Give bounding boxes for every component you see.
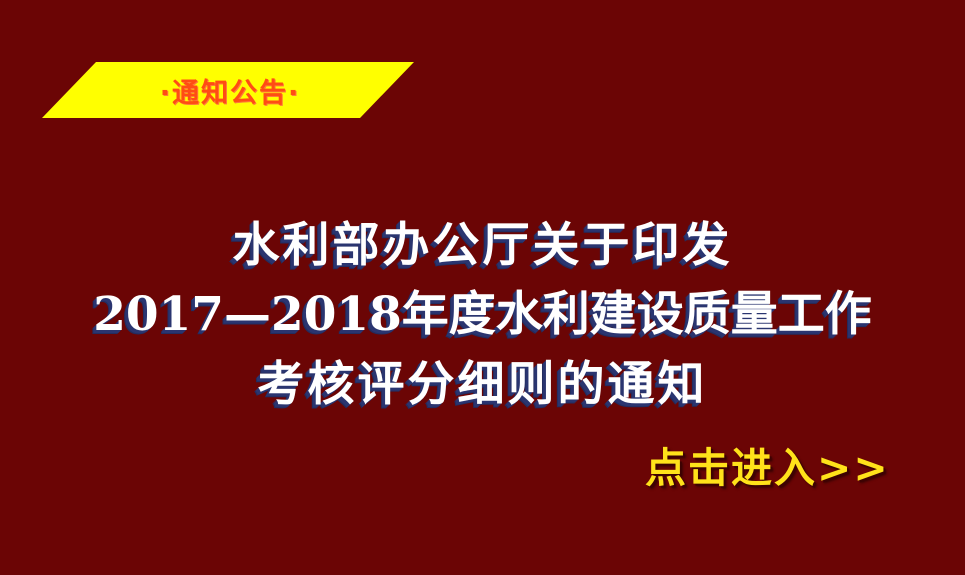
title-line-2: 2017—2018年度水利建设质量工作 bbox=[0, 280, 965, 350]
notice-banner-label: ·通知公告· bbox=[42, 62, 414, 118]
announcement-title: 水利部办公厅关于印发 2017—2018年度水利建设质量工作 考核评分细则的通知 bbox=[0, 212, 965, 420]
title-line-1: 水利部办公厅关于印发 bbox=[0, 212, 965, 280]
enter-link[interactable]: 点击进入>> bbox=[645, 434, 890, 494]
announcement-slide: ·通知公告· 水利部办公厅关于印发 2017—2018年度水利建设质量工作 考核… bbox=[0, 0, 965, 575]
notice-banner: ·通知公告· bbox=[42, 62, 414, 118]
title-line-3: 考核评分细则的通知 bbox=[0, 350, 965, 420]
